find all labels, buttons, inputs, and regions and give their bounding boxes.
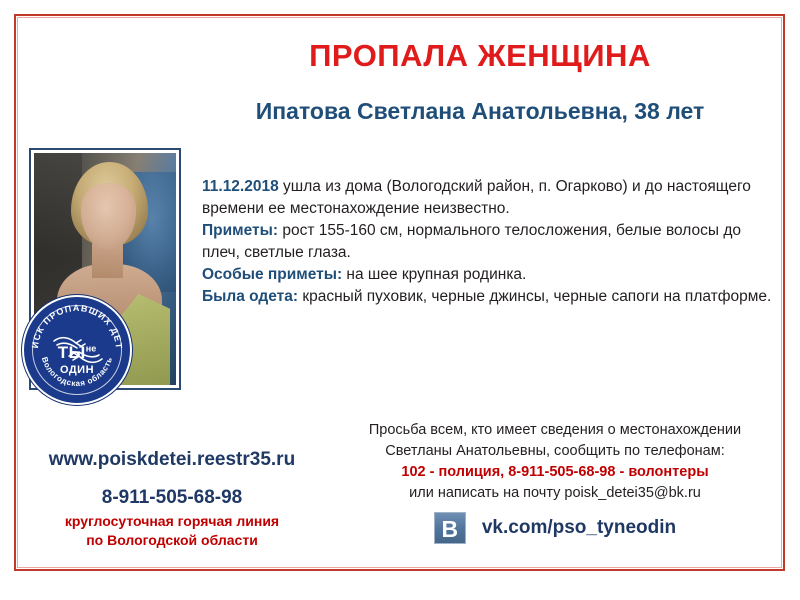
hotline-phone-number[interactable]: 8-911-505-68-98	[22, 487, 322, 509]
website-link[interactable]: www.poiskdetei.reestr35.ru	[22, 449, 322, 471]
description-signs: Приметы: рост 155-160 см, нормального те…	[202, 220, 772, 264]
clothes-text: красный пуховик, черные джинсы, черные с…	[298, 288, 771, 305]
disappearance-text: ушла из дома (Вологодский район, п. Огар…	[202, 178, 751, 217]
description-disappearance: 11.12.2018 ушла из дома (Вологодский рай…	[202, 176, 772, 220]
svg-text:Вологодская область: Вологодская область	[40, 356, 114, 388]
organization-seal: ПОИСК ПРОПАВШИХ ДЕТЕЙ Вологодская област…	[22, 295, 132, 405]
vk-icon[interactable]: B	[434, 512, 466, 544]
hotline-description: круглосуточная горячая линия по Вологодс…	[22, 512, 322, 550]
appeal-line-1: Просьба всем, кто имеет сведения о место…	[369, 422, 741, 438]
special-signs-label: Особые приметы:	[202, 266, 342, 283]
special-signs-text: на шее крупная родинка.	[342, 266, 526, 283]
missing-person-poster: ПРОПАЛА ЖЕНЩИНА Ипатова Светлана Анатоль…	[0, 0, 800, 600]
disappearance-date: 11.12.2018	[202, 178, 279, 195]
seal-arc-bottom-text: Вологодская область	[40, 356, 114, 388]
signs-label: Приметы:	[202, 222, 278, 239]
seal-text-arcs: ПОИСК ПРОПАВШИХ ДЕТЕЙ Вологодская област…	[24, 297, 130, 403]
email-line[interactable]: или написать на почту poisk_detei35@bk.r…	[409, 485, 701, 501]
clothes-label: Была одета:	[202, 288, 298, 305]
seal-hands-icon	[54, 338, 102, 363]
person-name-age: Ипатова Светлана Анатольевна, 38 лет	[190, 98, 770, 125]
vk-link[interactable]: vk.com/pso_tyneodin	[482, 517, 676, 539]
description-block: 11.12.2018 ушла из дома (Вологодский рай…	[202, 176, 772, 308]
poster-title: ПРОПАЛА ЖЕНЩИНА	[190, 38, 770, 74]
appeal-line-2: Светланы Анатольевны, сообщить по телефо…	[385, 443, 725, 459]
description-clothes: Была одета: красный пуховик, черные джин…	[202, 286, 772, 308]
emergency-phone-numbers[interactable]: 102 - полиция, 8-911-505-68-98 - волонте…	[335, 462, 775, 483]
signs-text: рост 155-160 см, нормального телосложени…	[202, 222, 741, 261]
hotline-description-line2: по Вологодской области	[86, 532, 258, 548]
vk-row[interactable]: B vk.com/pso_tyneodin	[335, 512, 775, 544]
description-special-signs: Особые приметы: на шее крупная родинка.	[202, 264, 772, 286]
hotline-description-line1: круглосуточная горячая линия	[65, 513, 279, 529]
appeal-block: Просьба всем, кто имеет сведения о место…	[335, 420, 775, 503]
